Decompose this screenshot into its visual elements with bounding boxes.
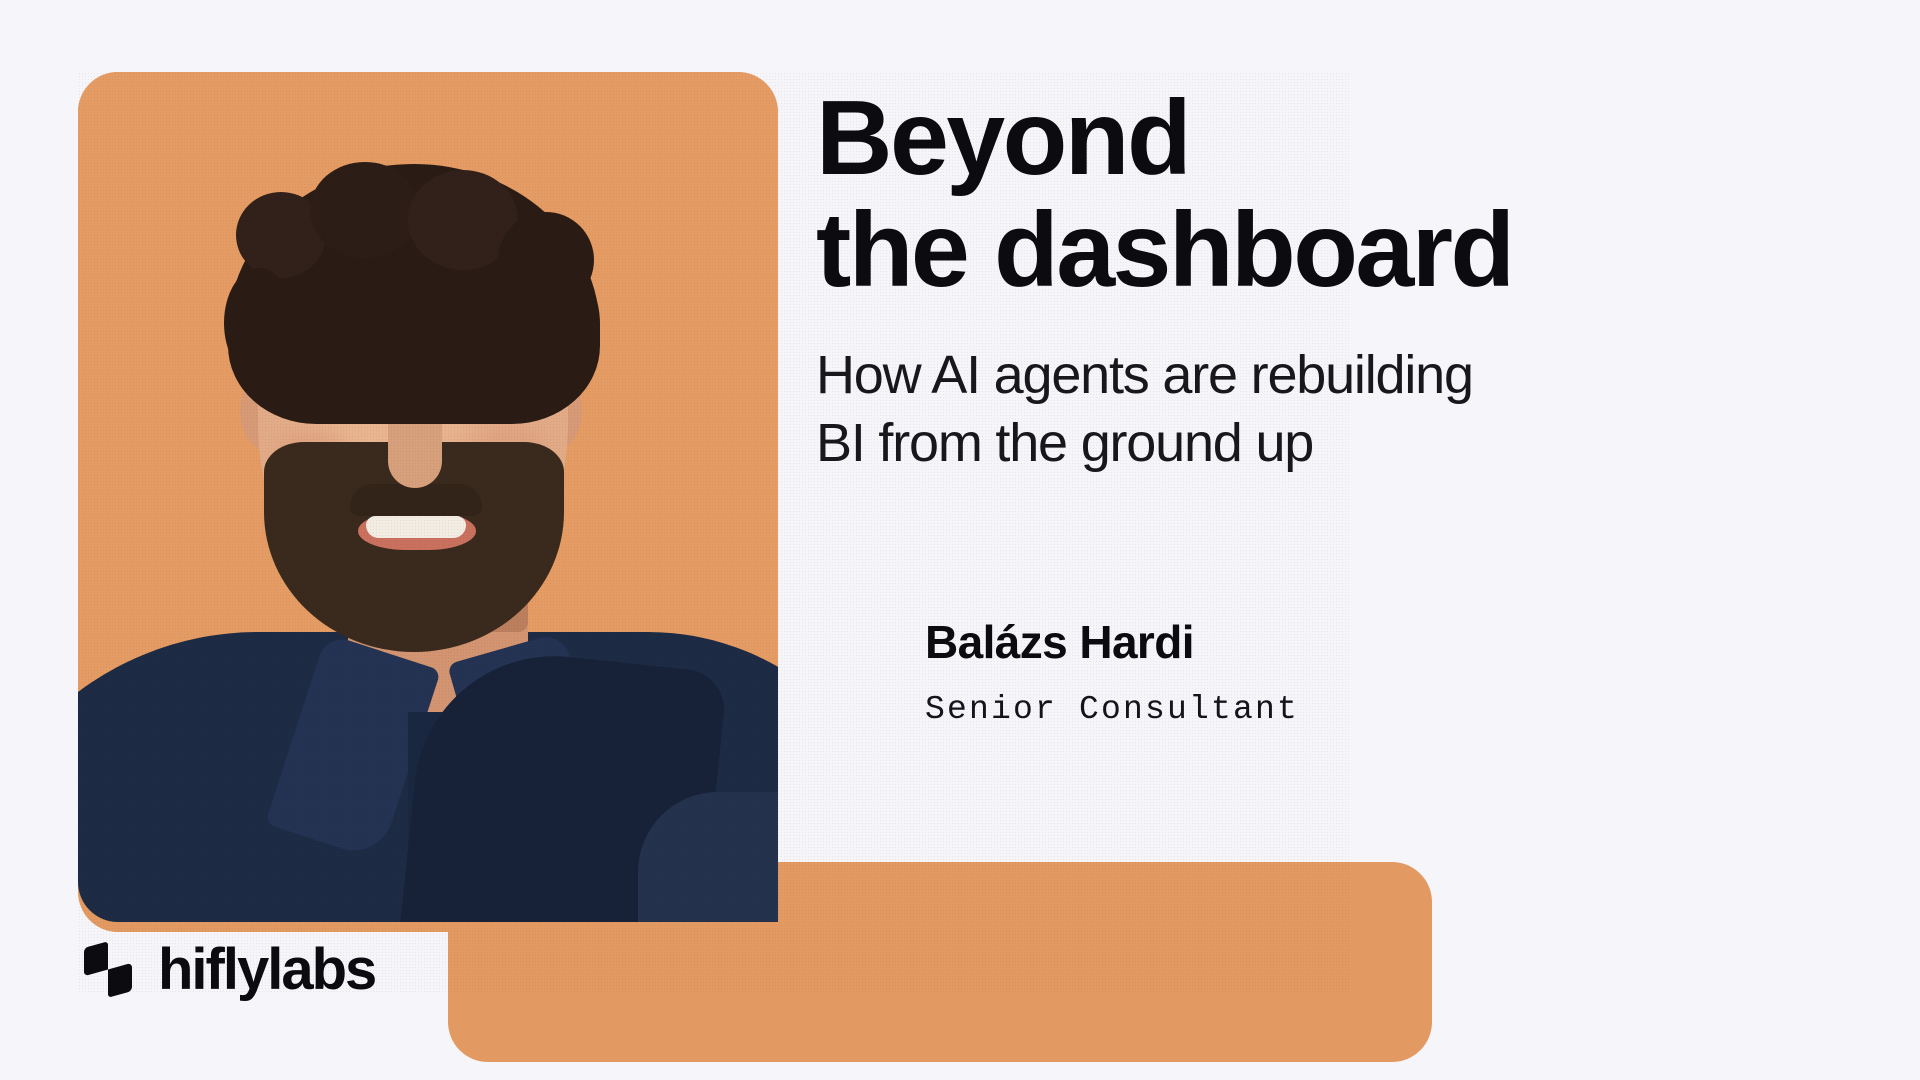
author-role: Senior Consultant	[925, 691, 1685, 728]
text-column: Beyond the dashboard How AI agents are r…	[816, 60, 1856, 477]
author-name: Balázs Hardi	[925, 615, 1685, 669]
headline-line-1: Beyond	[816, 79, 1189, 197]
page-title: Beyond the dashboard	[816, 82, 1856, 307]
brand-wordmark: hiflylabs	[158, 941, 375, 999]
social-share-card: Beyond the dashboard How AI agents are r…	[0, 0, 1920, 1080]
portrait-mustache	[350, 484, 482, 516]
hiflylabs-mark-icon	[80, 938, 136, 1002]
subhead-line-2: BI from the ground up	[816, 409, 1856, 477]
portrait-teeth	[366, 516, 466, 538]
portrait-photo-inner	[78, 72, 778, 922]
page-subtitle: How AI agents are rebuilding BI from the…	[816, 341, 1856, 477]
author-block: Balázs Hardi Senior Consultant	[925, 615, 1685, 728]
portrait-hair-curl	[310, 162, 420, 258]
brand-logo[interactable]: hiflylabs	[80, 938, 375, 1002]
headline-line-2: the dashboard	[816, 194, 1856, 306]
portrait-hair-curl	[224, 268, 294, 378]
subhead-line-1: How AI agents are rebuilding	[816, 345, 1473, 405]
portrait-hair-curl	[530, 268, 600, 380]
portrait-photo	[78, 72, 778, 922]
